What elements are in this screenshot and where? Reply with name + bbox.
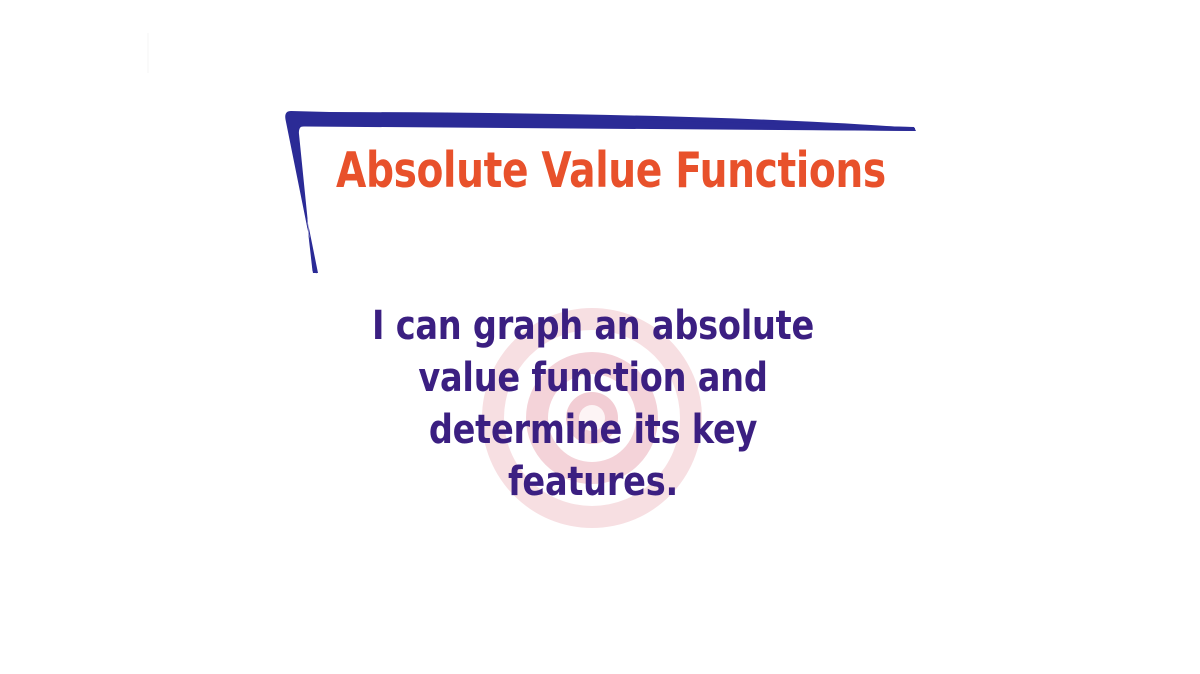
- page-title: Absolute Value Functions: [336, 146, 886, 195]
- faint-vertical-artifact: [147, 33, 149, 73]
- slide-canvas: Absolute Value Functions I can graph an …: [0, 0, 1200, 674]
- objective-line-4: features.: [95, 456, 1091, 508]
- objective-line-3: determine its key: [95, 404, 1091, 456]
- learning-objective-text: I can graph an absolute value function a…: [0, 300, 1186, 508]
- objective-line-1: I can graph an absolute: [95, 300, 1091, 352]
- objective-line-2: value function and: [95, 352, 1091, 404]
